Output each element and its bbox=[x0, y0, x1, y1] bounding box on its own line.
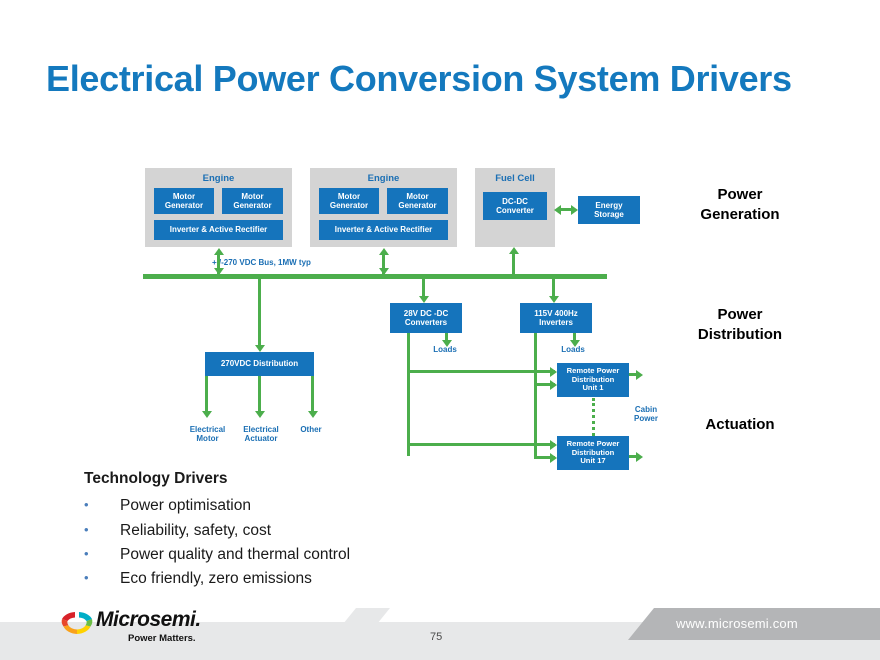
ac-inverters-box[interactable]: 115V 400Hz Inverters bbox=[520, 303, 592, 333]
driver-bullet-text-3: Eco friendly, zero emissions bbox=[120, 570, 312, 587]
bus-to-hvdc-distribution-arrow bbox=[255, 345, 265, 352]
hvdc-output-arrow-3 bbox=[308, 411, 318, 418]
ac-inverters-feeder-arrow-rpdu17 bbox=[550, 453, 557, 463]
engine-1-bus-arrow-up bbox=[214, 248, 224, 255]
ac-inverters-feeder-arrow-rpdu1 bbox=[550, 380, 557, 390]
hvdc-output-label-other: Other bbox=[291, 425, 331, 434]
fuel-cell-panel: Fuel Cell DC-DC Converter bbox=[475, 168, 555, 247]
engine-1-motor-generator-1[interactable]: Motor Generator bbox=[154, 188, 214, 214]
hvdc-output-line-3 bbox=[311, 376, 314, 414]
rpdu-continuation-dotted-line bbox=[592, 398, 595, 436]
driver-bullet-text-2: Power quality and thermal control bbox=[120, 546, 350, 563]
hvdc-output-label-electrical-actuator: Electrical Actuator bbox=[232, 425, 290, 443]
engine-panel-1-title: Engine bbox=[145, 173, 292, 184]
dc-converters-loads-label: Loads bbox=[425, 345, 465, 354]
driver-bullet-3: •Eco friendly, zero emissions bbox=[84, 570, 312, 588]
footer-website-url[interactable]: www.microsemi.com bbox=[676, 616, 798, 631]
technology-drivers-heading: Technology Drivers bbox=[84, 470, 228, 488]
engine-2-bus-arrow-down bbox=[379, 268, 389, 275]
engine-1-bus-arrow-down bbox=[214, 268, 224, 275]
section-label-power-generation: Power Generation bbox=[660, 185, 820, 226]
bus-to-hvdc-distribution-line bbox=[258, 279, 261, 347]
hvdc-output-line-1 bbox=[205, 376, 208, 414]
driver-bullet-text-1: Reliability, safety, cost bbox=[120, 522, 271, 539]
engine-panel-2: Engine Motor Generator Motor Generator I… bbox=[310, 168, 457, 247]
hvdc-output-arrow-1 bbox=[202, 411, 212, 418]
fuel-cell-dc-dc-converter[interactable]: DC-DC Converter bbox=[483, 192, 547, 220]
engine-2-inverter-rectifier[interactable]: Inverter & Active Rectifier bbox=[319, 220, 448, 240]
rpdu-1-output-arrow bbox=[636, 370, 643, 380]
slide-root: Electrical Power Conversion System Drive… bbox=[0, 0, 880, 660]
engine-1-inverter-rectifier[interactable]: Inverter & Active Rectifier bbox=[154, 220, 283, 240]
dc-converters-feeder-arrow-rpdu1 bbox=[550, 367, 557, 377]
section-label-actuation: Actuation bbox=[660, 415, 820, 435]
engine-1-motor-generator-2[interactable]: Motor Generator bbox=[222, 188, 283, 214]
engine-2-motor-generator-2[interactable]: Motor Generator bbox=[387, 188, 448, 214]
rpdu-1-box[interactable]: Remote Power Distribution Unit 1 bbox=[557, 363, 629, 397]
microsemi-logo-tagline: Power Matters. bbox=[128, 633, 196, 644]
bullet-marker-icon: • bbox=[84, 570, 120, 585]
microsemi-logo-text: Microsemi. bbox=[96, 608, 201, 632]
driver-bullet-0: •Power optimisation bbox=[84, 497, 251, 515]
dc-converters-feeder-arrow-rpdu17 bbox=[550, 440, 557, 450]
ac-inverters-feeder-vline bbox=[534, 333, 537, 456]
hvdc-output-arrow-2 bbox=[255, 411, 265, 418]
dc-converters-feeder-vline bbox=[407, 333, 410, 456]
engine-panel-2-title: Engine bbox=[310, 173, 457, 184]
hvdc-output-label-electrical-motor: Electrical Motor bbox=[180, 425, 235, 443]
fuel-cell-bus-arrow-up bbox=[509, 247, 519, 254]
ac-inverters-loads-label: Loads bbox=[553, 345, 593, 354]
bullet-marker-icon: • bbox=[84, 497, 120, 512]
fuelcell-storage-arrow-left bbox=[554, 205, 561, 215]
dc-converters-feeder-to-rpdu1 bbox=[407, 370, 555, 373]
bullet-marker-icon: • bbox=[84, 546, 120, 561]
fuelcell-storage-arrow-right bbox=[571, 205, 578, 215]
fuel-cell-panel-title: Fuel Cell bbox=[475, 173, 555, 184]
rpdu-17-box[interactable]: Remote Power Distribution Unit 17 bbox=[557, 436, 629, 470]
dc-converters-feeder-to-rpdu17 bbox=[407, 443, 555, 446]
engine-panel-1: Engine Motor Generator Motor Generator I… bbox=[145, 168, 292, 247]
bus-to-ac-inverters-arrow bbox=[549, 296, 559, 303]
hvdc-distribution-box[interactable]: 270VDC Distribution bbox=[205, 352, 314, 376]
driver-bullet-1: •Reliability, safety, cost bbox=[84, 522, 271, 540]
hvdc-output-line-2 bbox=[258, 376, 261, 414]
rpdu-17-output-arrow bbox=[636, 452, 643, 462]
engine-2-bus-arrow-up bbox=[379, 248, 389, 255]
bullet-marker-icon: • bbox=[84, 522, 120, 537]
microsemi-logo-icon bbox=[57, 606, 97, 645]
driver-bullet-text-0: Power optimisation bbox=[120, 497, 251, 514]
dc-dc-converters-box[interactable]: 28V DC -DC Converters bbox=[390, 303, 462, 333]
bus-to-dc-converters-arrow bbox=[419, 296, 429, 303]
energy-storage-box[interactable]: Energy Storage bbox=[578, 196, 640, 224]
fuel-cell-bus-link bbox=[512, 252, 515, 275]
engine-2-motor-generator-1[interactable]: Motor Generator bbox=[319, 188, 379, 214]
driver-bullet-2: •Power quality and thermal control bbox=[84, 546, 350, 564]
section-label-power-distribution: Power Distribution bbox=[660, 305, 820, 346]
page-number: 75 bbox=[430, 631, 442, 643]
